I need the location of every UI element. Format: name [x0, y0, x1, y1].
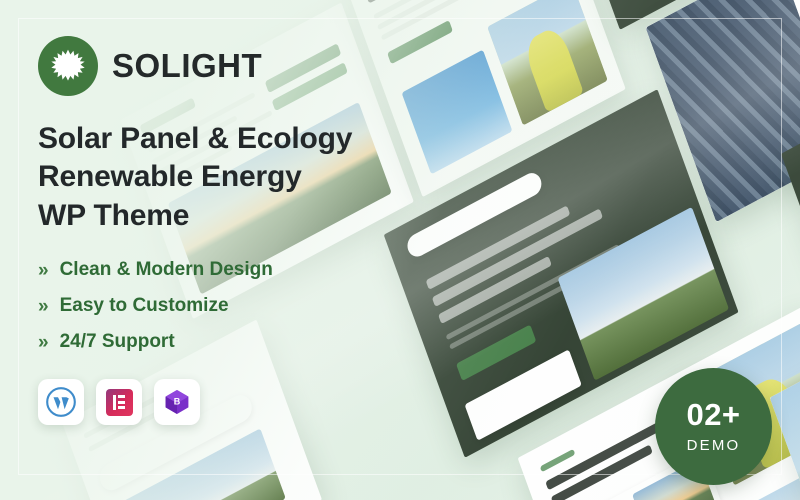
- tech-badge-row: B: [38, 379, 438, 425]
- wordpress-badge[interactable]: [38, 379, 84, 425]
- feature-label: 24/7 Support: [60, 331, 175, 353]
- elementor-icon: [106, 389, 133, 416]
- sun-starburst-icon: [38, 36, 98, 96]
- page-title: Solar Panel & Ecology Renewable Energy W…: [38, 120, 438, 235]
- headline-line-3: WP Theme: [38, 197, 438, 235]
- brand-name: SOLIGHT: [112, 47, 262, 85]
- feature-item: » Clean & Modern Design: [38, 259, 438, 281]
- feature-item: » 24/7 Support: [38, 331, 438, 353]
- feature-list: » Clean & Modern Design » Easy to Custom…: [38, 259, 438, 353]
- feature-item: » Easy to Customize: [38, 295, 438, 317]
- demo-label: DEMO: [687, 437, 741, 454]
- demo-count: 02+: [686, 399, 740, 430]
- headline-line-2: Renewable Energy: [38, 158, 438, 196]
- feature-label: Easy to Customize: [60, 295, 229, 317]
- bootstrap-icon: B: [162, 387, 192, 417]
- chevron-double-right-icon: »: [38, 333, 49, 352]
- brand-lockup: SOLIGHT: [38, 36, 438, 96]
- poster-canvas: SOLIGHT Solar Panel & Ecology Renewable …: [0, 0, 800, 500]
- chevron-double-right-icon: »: [38, 297, 49, 316]
- demo-count-badge: 02+ DEMO: [655, 368, 772, 485]
- wordpress-icon: [46, 387, 76, 417]
- bootstrap-badge[interactable]: B: [154, 379, 200, 425]
- svg-text:B: B: [174, 397, 181, 407]
- elementor-badge[interactable]: [96, 379, 142, 425]
- chevron-double-right-icon: »: [38, 261, 49, 280]
- headline-line-1: Solar Panel & Ecology: [38, 120, 438, 158]
- poster-content: SOLIGHT Solar Panel & Ecology Renewable …: [38, 36, 438, 425]
- feature-label: Clean & Modern Design: [60, 259, 273, 281]
